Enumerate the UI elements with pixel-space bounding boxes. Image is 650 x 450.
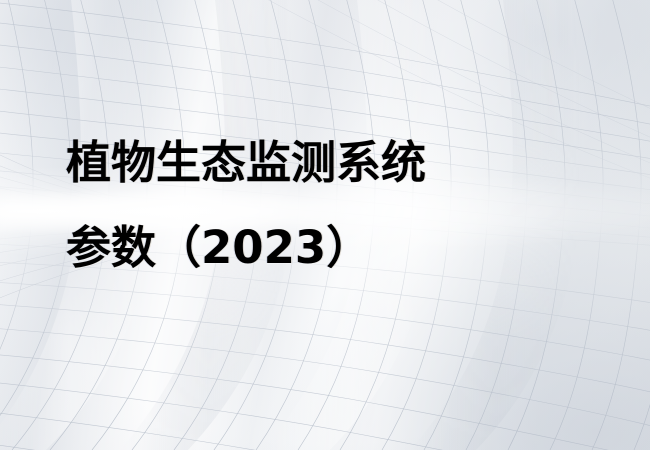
slide-title-line-1: 植物生态监测系统 bbox=[66, 120, 606, 205]
slide-title: 植物生态监测系统 参数（2023） bbox=[66, 120, 606, 290]
slide-title-line-2: 参数（2023） bbox=[66, 205, 606, 290]
title-slide: 植物生态监测系统 参数（2023） bbox=[0, 0, 650, 450]
